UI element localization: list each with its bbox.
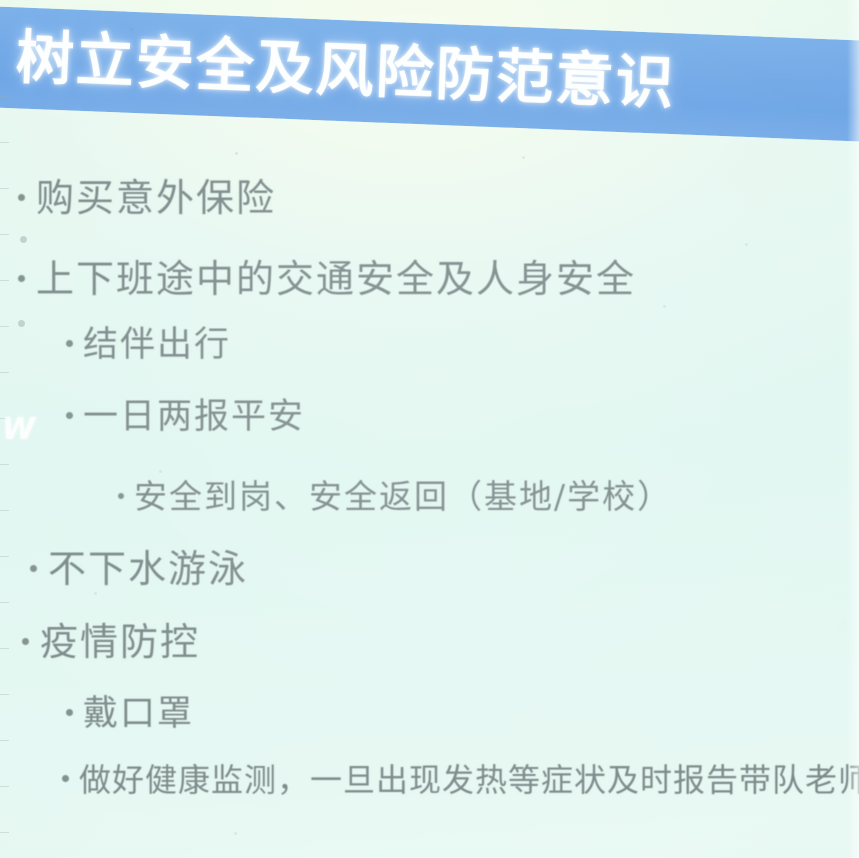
list-item-label: 安全到岗、安全返回（基地/学校）: [134, 477, 672, 516]
list-item: 疫情防控: [22, 620, 200, 664]
bullet-dot-icon: [66, 340, 73, 347]
list-item-label: 不下水游泳: [48, 547, 248, 591]
list-item-label: 上下班途中的交通安全及人身安全: [36, 257, 636, 301]
list-item: 购买意外保险: [18, 176, 276, 220]
list-item-label: 结伴出行: [83, 325, 231, 366]
bullet-dot-icon: [62, 775, 69, 782]
list-item-label: 做好健康监测，一旦出现发热等症状及时报告带队老师: [79, 760, 859, 801]
list-item-label: 戴口罩: [83, 694, 194, 735]
bullet-dot-icon: [18, 275, 25, 282]
list-item: 不下水游泳: [30, 547, 248, 591]
bullet-dot-icon: [18, 194, 25, 201]
bullet-dot-icon: [118, 493, 124, 499]
list-item-label: 疫情防控: [40, 620, 200, 664]
bullet-dot-icon: [22, 638, 29, 645]
list-item: 上下班途中的交通安全及人身安全: [18, 257, 636, 301]
list-item: 一日两报平安: [66, 397, 305, 438]
slide-body: 购买意外保险 上下班途中的交通安全及人身安全 结伴出行 一日两报平安 安全到岗、…: [0, 120, 859, 858]
bullet-dot-icon: [66, 709, 73, 716]
bullet-dot-icon: [66, 412, 73, 419]
list-item: 安全到岗、安全返回（基地/学校）: [118, 477, 672, 516]
list-item-label: 一日两报平安: [83, 397, 305, 438]
list-item: 做好健康监测，一旦出现发热等症状及时报告带队老师: [62, 760, 859, 801]
list-item: 结伴出行: [66, 325, 231, 366]
projected-slide: 树立安全及风险防范意识 购买意外保险 上下班途中的交通安全及人身安全 结伴出行 …: [0, 0, 859, 858]
list-item-label: 购买意外保险: [36, 176, 276, 220]
list-item: 戴口罩: [66, 694, 194, 735]
bullet-dot-icon: [30, 565, 37, 572]
